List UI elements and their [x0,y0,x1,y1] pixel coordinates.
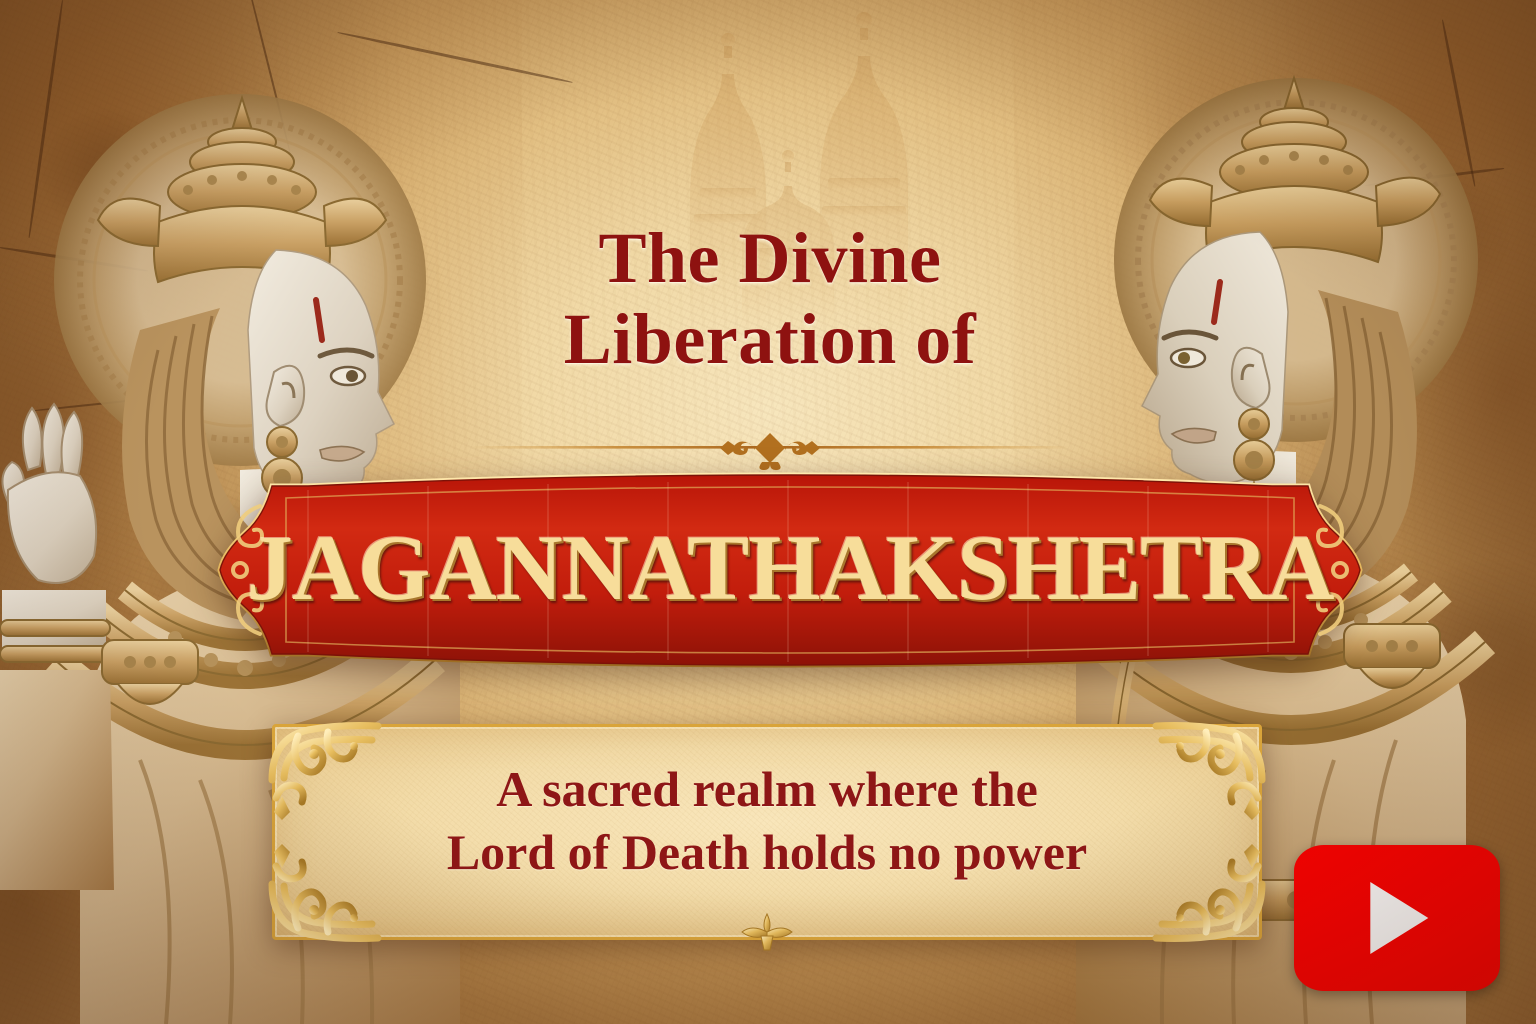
ornamental-divider-icon [470,426,1070,470]
headline-line-1: The Divine [598,218,941,298]
subtitle-text: A sacred realm where the Lord of Death h… [272,758,1262,884]
subtitle-panel: A sacred realm where the Lord of Death h… [272,724,1262,940]
banner-title: JAGANNATHAKSHETRA [168,522,1412,615]
fleur-de-lis-icon [730,912,804,952]
subtitle-line-2: Lord of Death holds no power [272,821,1262,884]
headline-line-2: Liberation of [430,299,1110,380]
youtube-play-button[interactable] [1294,845,1500,991]
play-triangle-icon [1370,882,1428,954]
page-title: The Divine Liberation of [430,218,1110,379]
subtitle-line-1: A sacred realm where the [272,758,1262,821]
poster-canvas: The Divine Liberation of [0,0,1536,1024]
main-banner: JAGANNATHAKSHETRA [168,470,1412,670]
